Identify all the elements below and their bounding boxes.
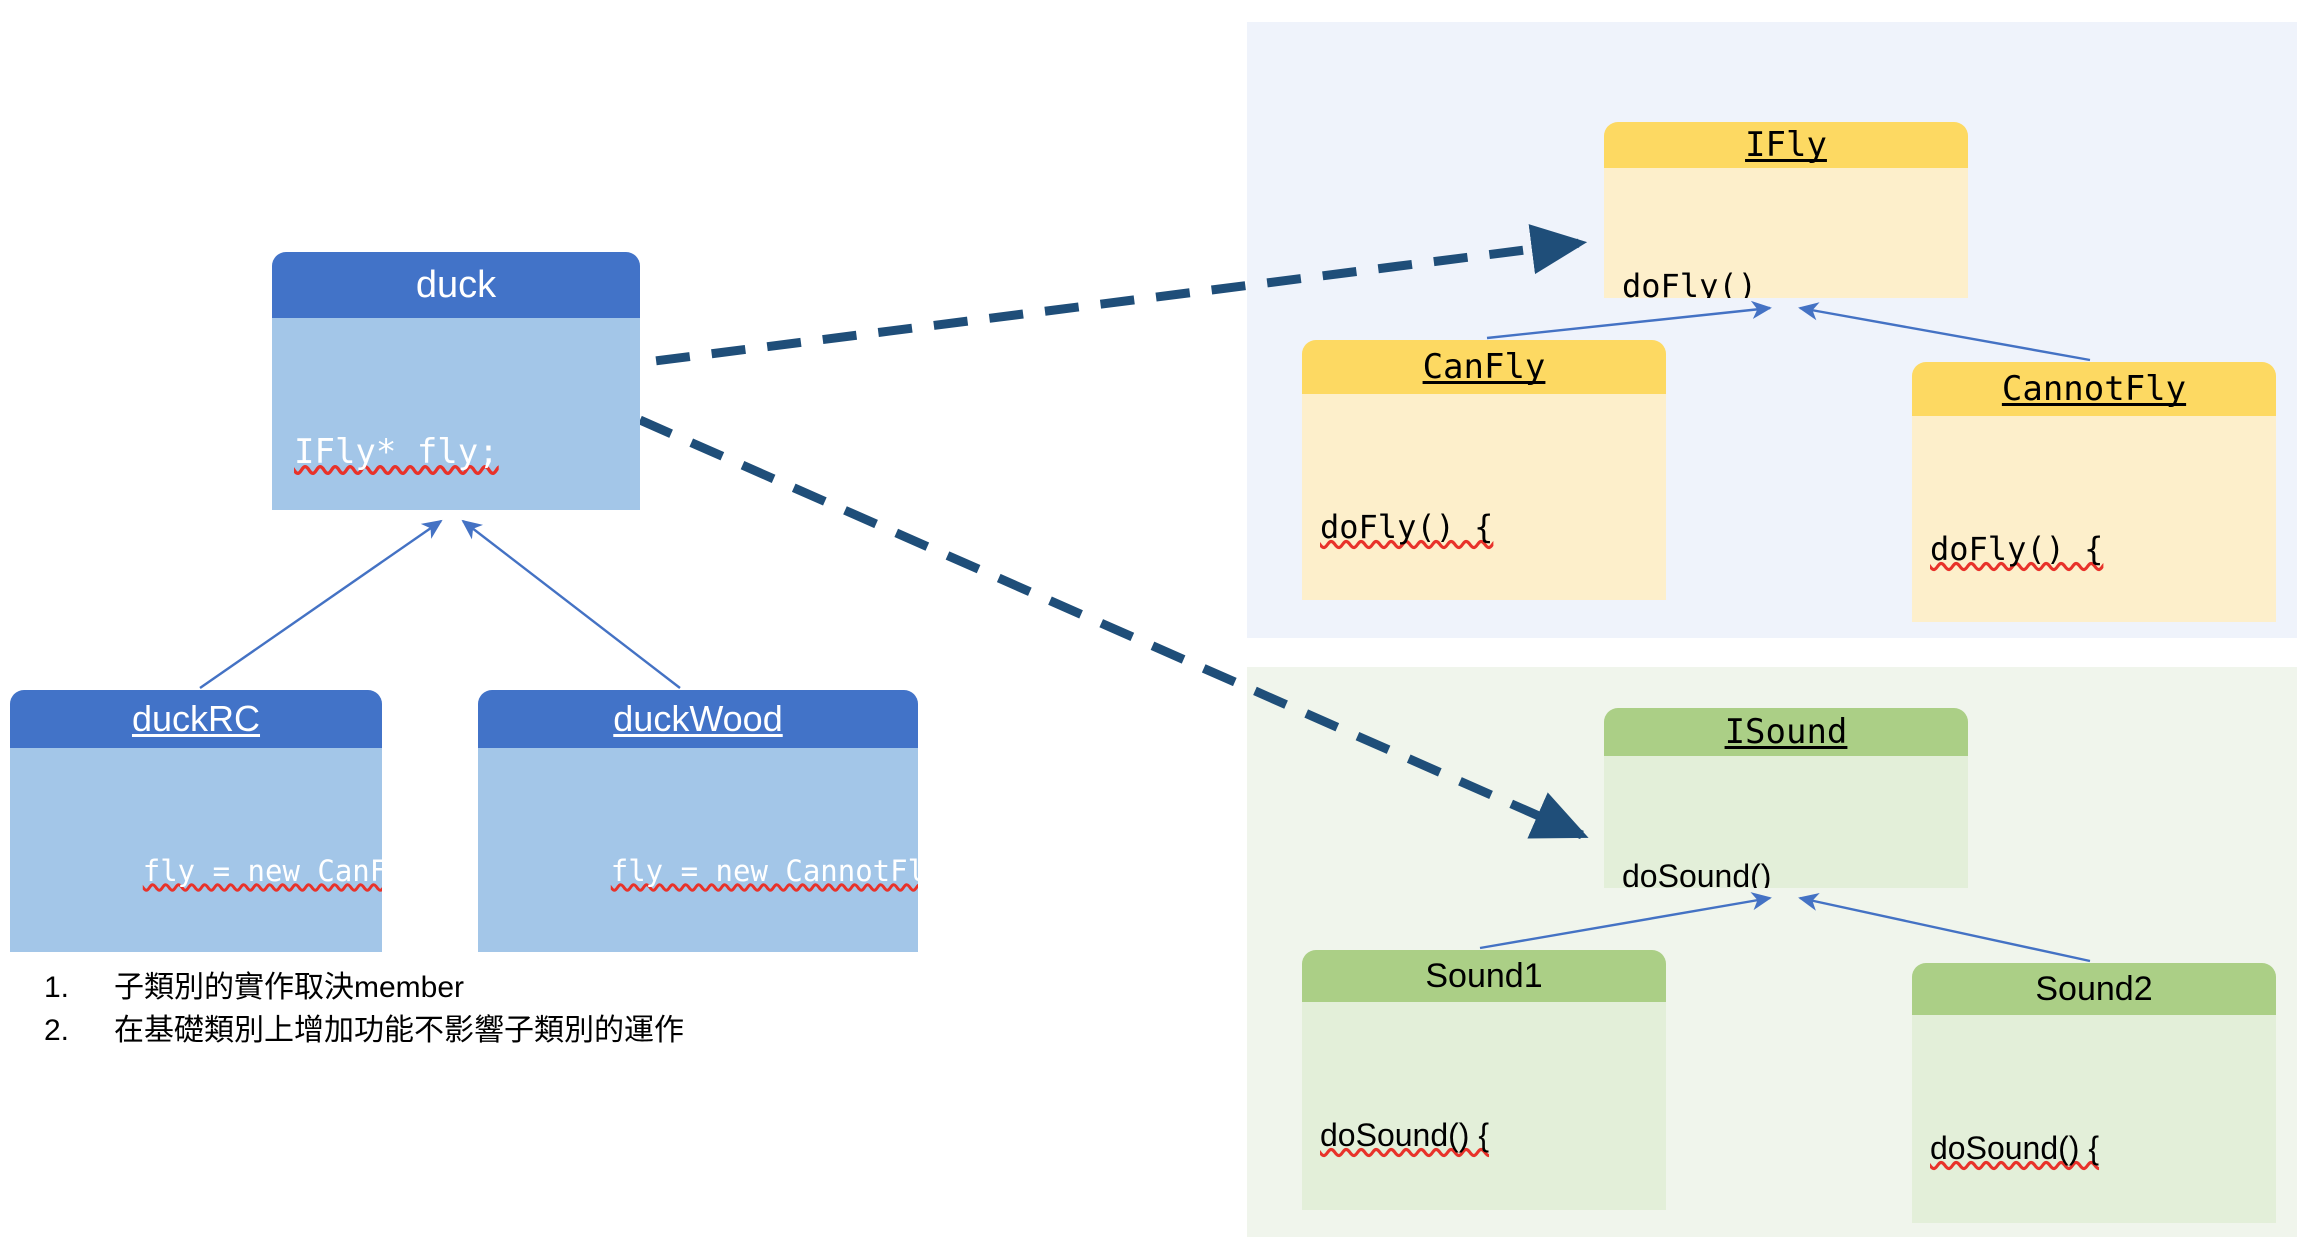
ifly-method: doFly() [1622, 267, 1757, 298]
class-box-canfly[interactable]: CanFly doFly() { “Can fly” } [1302, 340, 1666, 600]
class-members-isound: doSound() … [1604, 756, 1968, 888]
class-title-duck: duck [272, 252, 640, 318]
isound-method: doSound() [1622, 858, 1771, 888]
class-body-duckwood: fly = new CannotFly() [478, 748, 918, 952]
inheritance-duckwood-to-duck [463, 521, 680, 688]
class-box-isound[interactable]: ISound doSound() … [1604, 708, 1968, 888]
note-number: 1. [44, 966, 114, 1009]
inheritance-duckrc-to-duck [200, 521, 441, 688]
class-body-sound2: doSound() { “Sound2” } [1912, 1015, 2276, 1223]
class-members-ifly: doFly() … [1604, 168, 1968, 298]
class-box-sound2[interactable]: Sound2 doSound() { “Sound2” } [1912, 963, 2276, 1223]
class-box-cannotfly[interactable]: CannotFly doFly() { “Cannot fly” } [1912, 362, 2276, 622]
diagram-canvas: IFly (dependency, thick dashed) --> ISou… [0, 0, 2318, 1258]
class-title-duckwood: duckWood [478, 690, 918, 748]
class-title-ifly: IFly [1604, 122, 1968, 168]
duck-member-fly: IFly* fly; [294, 432, 499, 472]
class-title-isound: ISound [1604, 708, 1968, 756]
class-title-canfly: CanFly [1302, 340, 1666, 394]
class-body-sound1: doSound() { “Sound1” } [1302, 1002, 1666, 1210]
class-box-duckrc[interactable]: duckRC fly = new CanFly() [10, 690, 382, 952]
note-text: 在基礎類別上增加功能不影響子類別的運作 [114, 1009, 844, 1052]
class-box-duck[interactable]: duck IFly* fly; Isound* sound; … [272, 252, 640, 510]
class-title-sound1: Sound1 [1302, 950, 1666, 1002]
note-number: 2. [44, 1009, 114, 1052]
note-text: 子類別的實作取決member [114, 966, 844, 1009]
list-item: 2. 在基礎類別上增加功能不影響子類別的運作 [44, 1009, 844, 1052]
notes-list: 1. 子類別的實作取決member 2. 在基礎類別上增加功能不影響子類別的運作 [44, 966, 844, 1052]
class-title-sound2: Sound2 [1912, 963, 2276, 1015]
class-body-duckrc: fly = new CanFly() [10, 748, 382, 952]
list-item: 1. 子類別的實作取決member [44, 966, 844, 1009]
class-title-cannotfly: CannotFly [1912, 362, 2276, 416]
class-box-duckwood[interactable]: duckWood fly = new CannotFly() [478, 690, 918, 952]
class-members-duck: IFly* fly; Isound* sound; … [272, 318, 640, 510]
class-body-canfly: doFly() { “Can fly” } [1302, 394, 1666, 600]
class-box-ifly[interactable]: IFly doFly() … [1604, 122, 1968, 298]
class-body-cannotfly: doFly() { “Cannot fly” } [1912, 416, 2276, 622]
class-box-sound1[interactable]: Sound1 doSound() { “Sound1” } [1302, 950, 1666, 1210]
class-title-duckrc: duckRC [10, 690, 382, 748]
